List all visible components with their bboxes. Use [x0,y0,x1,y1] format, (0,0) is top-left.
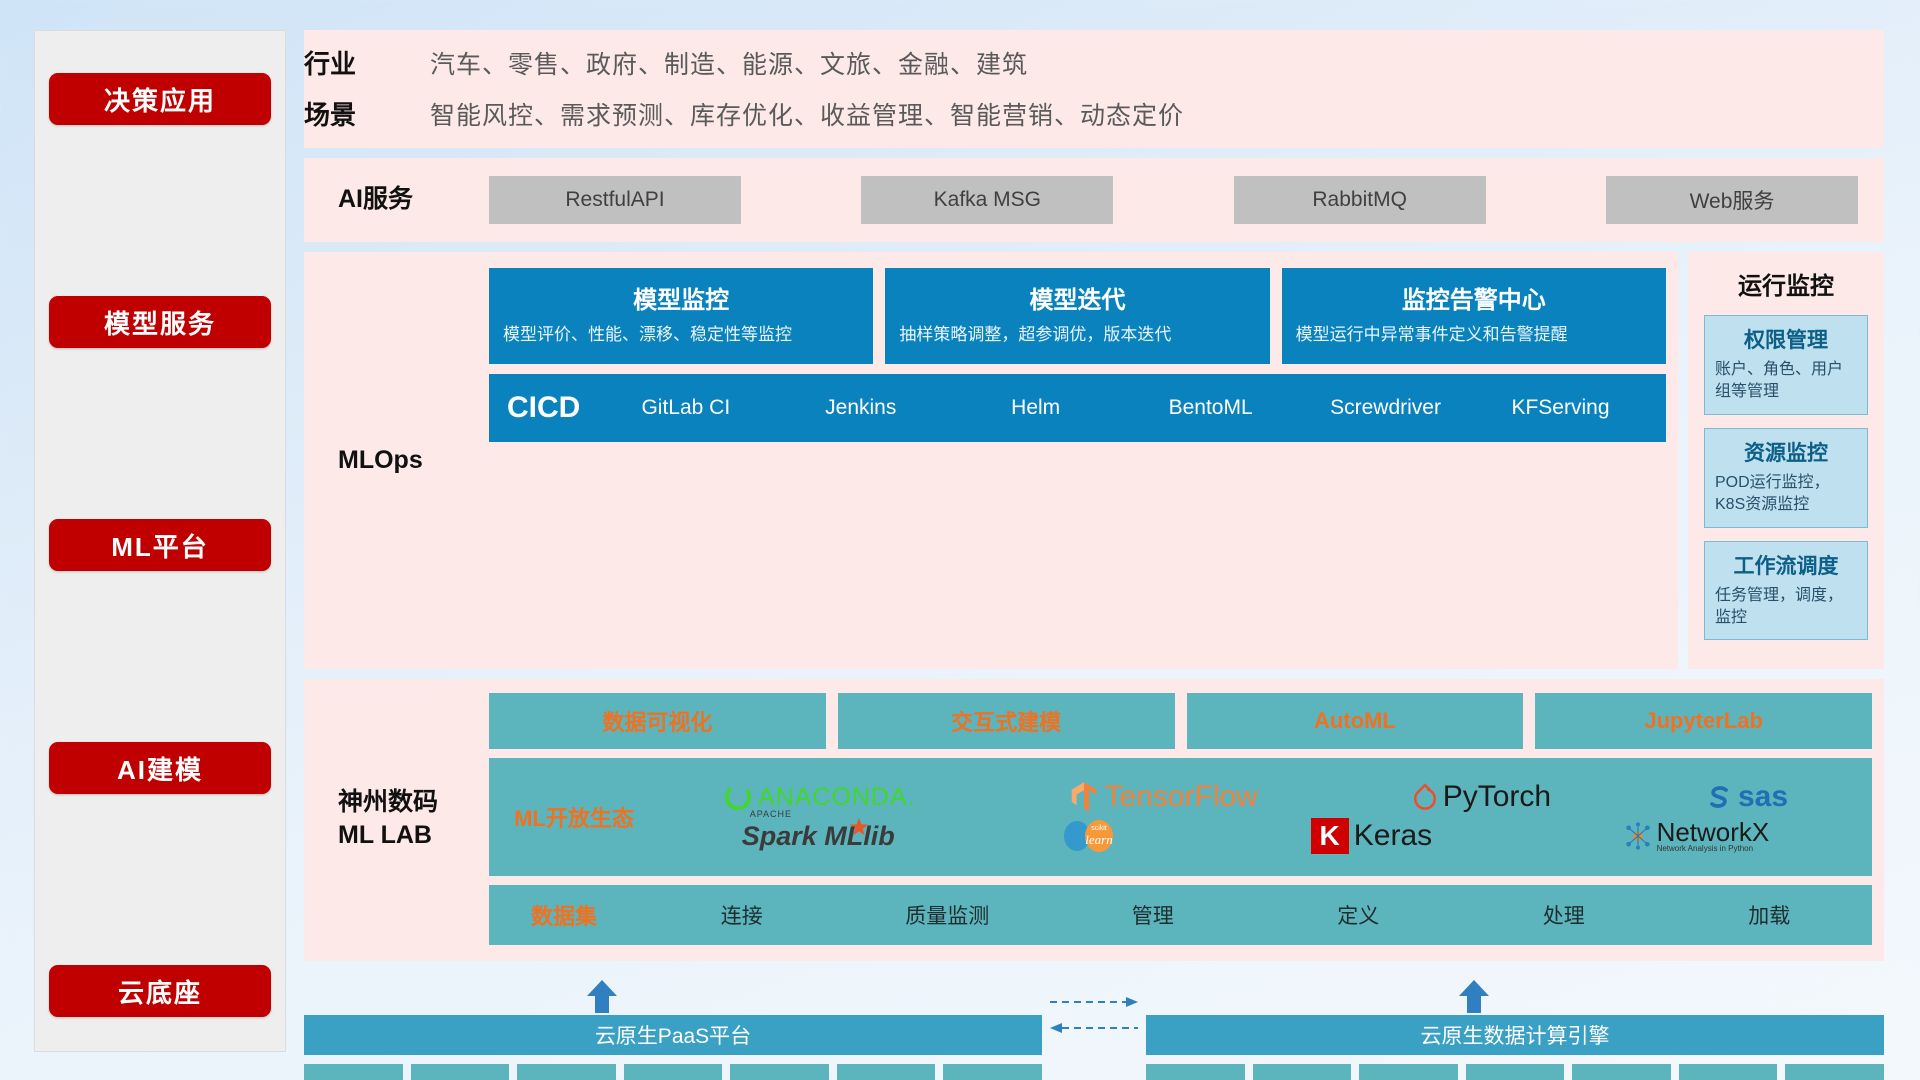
spark-apache-sup: APACHE [750,809,792,819]
tab-interactive-modeling[interactable]: 交互式建模 [838,693,1175,749]
compute-arrow-wrap [1146,977,1884,1015]
tag-flink[interactable]: Flink [1466,1064,1565,1080]
sidebar-item-cloud-base[interactable]: 云底座 [49,965,271,1017]
tag-rocketmq[interactable]: RocketMQ [624,1064,723,1080]
keras-mark-icon: K [1311,818,1349,854]
anaconda-logo: ANACONDA. [723,782,916,812]
ai-service-layer: AI服务 RestfulAPI Kafka MSG RabbitMQ Web服务 [304,158,1884,242]
pytorch-logo: PyTorch [1412,780,1551,814]
industry-values: 汽车、零售、政府、制造、能源、文旅、金融、建筑 [430,45,1028,81]
card-title: 工作流调度 [1715,550,1857,580]
mlops-card-model-monitor[interactable]: 模型监控 模型评价、性能、漂移、稳定性等监控 [489,268,873,364]
arrow-up-icon [584,979,620,1015]
cicd-tool-kfserving[interactable]: KFServing [1473,397,1648,419]
ai-service-label: AI服务 [304,181,489,219]
eco-label: ML开放生态 [499,801,649,833]
chip-rabbitmq[interactable]: RabbitMQ [1234,176,1486,224]
chip-web-service[interactable]: Web服务 [1606,176,1858,224]
scikit-learn-logo: scikit learn [1061,819,1119,853]
scikit-learn-icon: scikit learn [1061,819,1119,853]
arrow-left-dashed-icon [1048,1021,1140,1035]
sidebar-item-ai-modeling[interactable]: AI建模 [49,742,271,794]
paas-bar: 云原生PaaS平台 [304,1015,1042,1055]
tag-kafka-paas[interactable]: Kafka [837,1064,936,1080]
tab-data-visualization[interactable]: 数据可视化 [489,693,826,749]
svg-text:learn: learn [1085,832,1112,847]
cicd-tool-gitlab[interactable]: GitLab CI [598,397,773,419]
sas-icon [1705,783,1733,811]
eco-logo-row-1: ANACONDA. TensorFlow [649,780,1862,814]
sas-logo: sas [1705,780,1788,814]
card-desc: 模型评价、性能、漂移、稳定性等监控 [503,323,859,348]
chip-restfulapi[interactable]: RestfulAPI [489,176,741,224]
layer-rail: 决策应用 模型服务 ML平台 AI建模 云底座 [34,30,286,1052]
dataset-item-load[interactable]: 加载 [1667,900,1873,930]
monitoring-column: 运行监控 权限管理 账户、角色、用户组等管理 资源监控 POD运行监控，K8S资… [1688,252,1884,669]
compute-tags: Kafka Spark Presto Flink Hadoop Storm ..… [1146,1064,1884,1080]
tag-kafka-compute[interactable]: Kafka [1146,1064,1245,1080]
dataset-item-connect[interactable]: 连接 [639,900,845,930]
svg-text:scikit: scikit [1091,825,1107,832]
tag-more-paas[interactable]: ... [943,1064,1042,1080]
arrow-up-icon [1456,979,1492,1015]
card-title: 权限管理 [1715,324,1857,354]
anaconda-icon [723,782,753,812]
eco-logos: ANACONDA. TensorFlow [649,780,1862,854]
application-layer: 行业 汽车、零售、政府、制造、能源、文旅、金融、建筑 场景 智能风控、需求预测、… [304,30,1884,148]
dataset-item-manage[interactable]: 管理 [1050,900,1256,930]
card-title: 资源监控 [1715,437,1857,467]
dataset-item-process[interactable]: 处理 [1461,900,1667,930]
tensorflow-text: TensorFlow [1104,780,1257,814]
card-desc: 账户、角色、用户组等管理 [1715,359,1857,404]
tag-storm[interactable]: Storm [1679,1064,1778,1080]
cloud-link-arrows [1042,977,1146,1035]
eco-logo-row-2: APACHE Spark MLlib [649,818,1862,854]
keras-logo: K Keras [1311,818,1433,854]
card-title: 模型迭代 [899,280,1255,315]
networkx-text: NetworkX [1657,819,1770,845]
ml-open-ecosystem: ML开放生态 ANACONDA. [489,758,1872,876]
mllab-tabs: 数据可视化 交互式建模 AutoML JupyterLab [489,693,1872,749]
mlops-layer: MLOps 模型监控 模型评价、性能、漂移、稳定性等监控 模型迭代 抽样策略调整… [304,252,1678,669]
scenario-label: 场景 [304,95,396,132]
ai-service-chips: RestfulAPI Kafka MSG RabbitMQ Web服务 [489,176,1858,224]
tag-presto[interactable]: Presto [1359,1064,1458,1080]
arrow-right-dashed-icon [1048,995,1140,1009]
industry-label: 行业 [304,44,396,81]
scenario-values: 智能风控、需求预测、库存优化、收益管理、智能营销、动态定价 [430,96,1184,132]
card-desc: 抽样策略调整，超参调优，版本迭代 [899,323,1255,348]
paas-arrow-wrap [304,977,1042,1015]
networkx-icon [1624,822,1652,850]
card-desc: POD运行监控，K8S资源监控 [1715,472,1857,517]
cloud-layer: 云原生PaaS平台 Nginx Kong Istio RocketMQ GRPC… [304,977,1884,1080]
tag-nginx[interactable]: Nginx [304,1064,403,1080]
mlops-card-row: 模型监控 模型评价、性能、漂移、稳定性等监控 模型迭代 抽样策略调整，超参调优，… [489,268,1666,364]
card-desc: 任务管理，调度，监控 [1715,585,1857,630]
tag-kong[interactable]: Kong [411,1064,510,1080]
tab-automl[interactable]: AutoML [1187,693,1524,749]
cicd-label: CICD [507,391,598,425]
dataset-item-quality[interactable]: 质量监测 [845,900,1051,930]
mlops-monitoring-wrap: MLOps 模型监控 模型评价、性能、漂移、稳定性等监控 模型迭代 抽样策略调整… [304,252,1884,669]
dataset-label: 数据集 [489,899,639,931]
pytorch-icon [1412,782,1438,812]
industry-row: 行业 汽车、零售、政府、制造、能源、文旅、金融、建筑 [304,44,1864,81]
mlops-cards: 模型监控 模型评价、性能、漂移、稳定性等监控 模型迭代 抽样策略调整，超参调优，… [489,268,1666,653]
mllab-label: 神州数码 ML LAB [304,693,489,945]
sidebar-item-ml-platform[interactable]: ML平台 [49,519,271,571]
card-title: 模型监控 [503,280,859,315]
sidebar-item-decision-app[interactable]: 决策应用 [49,73,271,125]
networkx-logo: NetworkX Network Analysis in Python [1624,819,1770,853]
mllab-layer: 神州数码 ML LAB 数据可视化 交互式建模 AutoML JupyterLa… [304,679,1884,961]
compute-bar: 云原生数据计算引擎 [1146,1015,1884,1055]
dataset-item-define[interactable]: 定义 [1256,900,1462,930]
cicd-tool-helm[interactable]: Helm [948,397,1123,419]
cicd-tool-screwdriver[interactable]: Screwdriver [1298,397,1473,419]
card-desc: 模型运行中异常事件定义和告警提醒 [1296,323,1652,348]
spark-mllib-logo: APACHE Spark MLlib [742,821,870,852]
dataset-row: 数据集 连接 质量监测 管理 定义 处理 加载 [489,885,1872,945]
monitoring-card-permission[interactable]: 权限管理 账户、角色、用户组等管理 [1704,315,1868,415]
paas-tags: Nginx Kong Istio RocketMQ GRPC Kafka ... [304,1064,1042,1080]
tag-istio[interactable]: Istio [517,1064,616,1080]
mlops-card-alert-center[interactable]: 监控告警中心 模型运行中异常事件定义和告警提醒 [1282,268,1666,364]
mlops-card-model-iteration[interactable]: 模型迭代 抽样策略调整，超参调优，版本迭代 [885,268,1269,364]
sas-text: sas [1738,780,1788,814]
tensorflow-icon [1069,781,1099,813]
sidebar-item-model-service[interactable]: 模型服务 [49,296,271,348]
diagram-root: 决策应用 模型服务 ML平台 AI建模 云底座 行业 汽车、零售、政府、制造、能… [0,0,1920,1080]
monitoring-title: 运行监控 [1704,266,1868,301]
cloud-paas-half: 云原生PaaS平台 Nginx Kong Istio RocketMQ GRPC… [304,977,1042,1080]
tensorflow-logo: TensorFlow [1069,780,1257,814]
cicd-row: CICD GitLab CI Jenkins Helm BentoML Scre… [489,374,1666,442]
cloud-compute-half: 云原生数据计算引擎 Kafka Spark Presto Flink Hadoo… [1146,977,1884,1080]
cicd-tool-jenkins[interactable]: Jenkins [773,397,948,419]
spark-mllib-text: Spark MLlib [742,821,895,851]
monitoring-card-workflow[interactable]: 工作流调度 任务管理，调度，监控 [1704,541,1868,641]
chip-kafka-msg[interactable]: Kafka MSG [861,176,1113,224]
monitoring-card-resource[interactable]: 资源监控 POD运行监控，K8S资源监控 [1704,428,1868,528]
cicd-tool-bentoml[interactable]: BentoML [1123,397,1298,419]
tag-grpc[interactable]: GRPC [730,1064,829,1080]
keras-text: Keras [1354,819,1432,853]
tag-hadoop[interactable]: Hadoop [1572,1064,1671,1080]
anaconda-text: ANACONDA. [758,783,916,812]
mlops-label: MLOps [304,268,489,653]
application-rows: 行业 汽车、零售、政府、制造、能源、文旅、金融、建筑 场景 智能风控、需求预测、… [304,44,1864,132]
mllab-label-line1: 神州数码 [338,786,489,820]
mllab-inner: 数据可视化 交互式建模 AutoML JupyterLab ML开放生态 [489,693,1872,945]
layers-stack: 行业 汽车、零售、政府、制造、能源、文旅、金融、建筑 场景 智能风控、需求预测、… [304,30,1884,1052]
networkx-subtitle: Network Analysis in Python [1657,845,1770,853]
scenario-row: 场景 智能风控、需求预测、库存优化、收益管理、智能营销、动态定价 [304,95,1864,132]
card-title: 监控告警中心 [1296,280,1652,315]
mllab-label-line2: ML LAB [338,819,489,853]
tab-jupyterlab[interactable]: JupyterLab [1535,693,1872,749]
tag-spark[interactable]: Spark [1253,1064,1352,1080]
pytorch-text: PyTorch [1443,780,1551,814]
tag-more-compute[interactable]: ... [1785,1064,1884,1080]
